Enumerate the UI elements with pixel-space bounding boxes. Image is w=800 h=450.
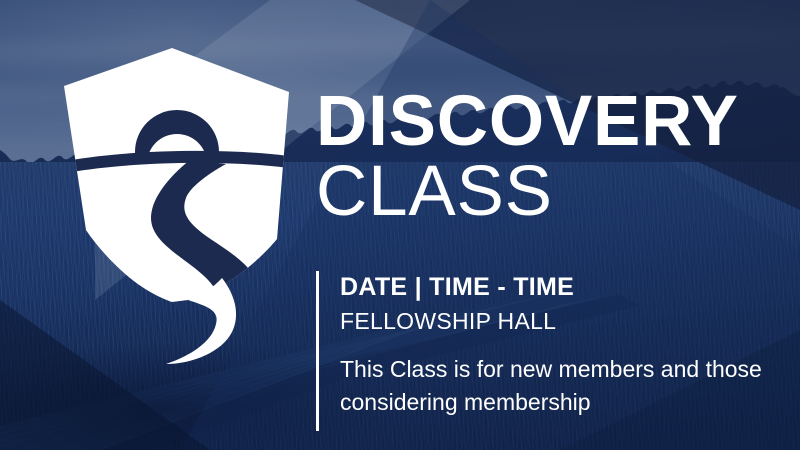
page-title-line-1: DISCOVERY: [316, 88, 786, 156]
title-block: DISCOVERY CLASS: [316, 88, 786, 229]
slide-canvas: DISCOVERY CLASS DATE | TIME - TIME FELLO…: [0, 0, 800, 450]
event-location: FELLOWSHIP HALL: [340, 308, 770, 335]
event-details-block: DATE | TIME - TIME FELLOWSHIP HALL This …: [316, 271, 790, 431]
page-title-line-2: CLASS: [316, 156, 786, 228]
event-datetime: DATE | TIME - TIME: [340, 273, 770, 302]
vertical-rule-divider: [316, 271, 319, 431]
shield-sunrise-road-logo: [40, 34, 320, 344]
event-details-text: DATE | TIME - TIME FELLOWSHIP HALL This …: [340, 271, 770, 431]
event-description: This Class is for new members and those …: [340, 353, 770, 418]
